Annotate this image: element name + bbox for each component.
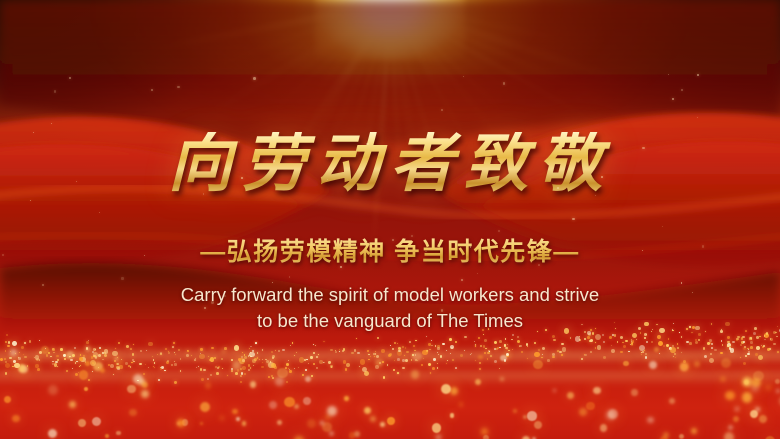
floating-sparkle — [461, 279, 463, 281]
gold-particle — [553, 339, 556, 342]
gold-bokeh-orb — [250, 381, 256, 387]
gold-particle — [740, 344, 742, 346]
gold-particle — [668, 338, 669, 339]
gold-particle — [174, 381, 176, 383]
gold-particle — [758, 355, 763, 360]
gold-bokeh-orb — [269, 401, 277, 409]
gold-particle — [485, 348, 486, 349]
gold-particle — [499, 340, 502, 343]
gold-particle — [286, 363, 289, 366]
gold-particle — [119, 365, 122, 368]
gold-particle — [29, 340, 32, 343]
gold-bokeh-orb — [387, 417, 394, 424]
gold-particle — [737, 336, 739, 338]
gold-particle — [21, 346, 24, 349]
gold-particle — [773, 343, 775, 345]
floating-sparkle — [470, 246, 471, 247]
gold-bokeh-orb — [344, 396, 349, 401]
gold-bokeh-orb — [481, 428, 488, 435]
english-tagline-line2: to be the vanguard of The Times — [0, 308, 780, 334]
gold-bokeh-orb — [567, 392, 574, 399]
gold-bokeh-orb — [370, 416, 377, 423]
gold-particle — [139, 363, 141, 365]
gold-bokeh-orb — [78, 419, 86, 427]
gold-particle — [584, 354, 585, 355]
particle-glow-streak-2 — [0, 368, 780, 384]
gold-particle — [393, 369, 395, 371]
gold-particle — [748, 351, 750, 353]
gold-particle — [242, 359, 245, 362]
gold-bokeh-orb — [720, 376, 726, 382]
gold-particle — [133, 344, 134, 345]
gold-particle — [397, 343, 398, 344]
gold-particle — [595, 334, 601, 340]
floating-sparkle — [340, 266, 341, 267]
gold-particle — [764, 339, 765, 340]
gold-particle — [174, 363, 177, 366]
gold-particle — [313, 363, 315, 365]
gold-particle — [328, 361, 330, 363]
gold-bokeh-orb — [669, 398, 675, 404]
gold-particle — [657, 335, 661, 339]
gold-particle — [250, 346, 252, 348]
gold-particle — [743, 362, 747, 366]
gold-particle — [54, 363, 58, 367]
floating-sparkle — [697, 74, 698, 75]
gold-particle — [60, 348, 63, 351]
gold-bokeh-orb — [267, 360, 273, 366]
gold-bokeh-orb — [232, 361, 241, 370]
gold-particle — [490, 355, 492, 357]
gold-particle — [534, 342, 536, 344]
gold-particle — [617, 341, 619, 343]
gold-particle — [414, 350, 415, 351]
gold-particle — [494, 341, 497, 344]
gold-bokeh-orb — [691, 428, 697, 434]
gold-particle — [171, 364, 173, 366]
particle-band — [0, 320, 780, 439]
gold-particle — [552, 356, 554, 358]
gold-particle — [750, 341, 753, 344]
gold-particle — [158, 379, 160, 381]
gold-particle — [677, 347, 679, 349]
gold-particle — [659, 353, 660, 354]
gold-particle — [479, 368, 480, 369]
gold-particle — [88, 379, 90, 381]
gold-particle — [447, 360, 448, 361]
gold-particle — [250, 367, 251, 368]
gold-particle — [590, 351, 592, 353]
gold-particle — [562, 347, 566, 351]
gold-particle — [478, 337, 480, 339]
gold-particle — [761, 345, 762, 346]
gold-bokeh-orb — [436, 435, 441, 439]
gold-particle — [5, 361, 7, 363]
gold-particle — [108, 364, 110, 366]
gold-particle — [98, 354, 101, 357]
gold-particle — [542, 347, 545, 350]
gold-particle — [262, 362, 263, 363]
gold-particle — [172, 346, 174, 348]
gold-particle — [641, 352, 642, 353]
gold-bokeh-orb — [694, 361, 701, 368]
gold-particle — [240, 381, 242, 383]
gold-bokeh-orb — [380, 422, 385, 427]
gold-particle — [360, 359, 365, 364]
gold-bokeh-orb — [133, 374, 143, 384]
gold-particle — [730, 348, 735, 353]
gold-particle — [209, 359, 211, 361]
gold-bokeh-orb — [742, 392, 753, 403]
gold-particle — [362, 367, 367, 372]
gold-particle — [262, 359, 263, 360]
gold-particle — [12, 341, 17, 346]
gold-particle — [547, 359, 550, 362]
gold-bokeh-orb — [329, 431, 334, 436]
gold-particle — [186, 354, 189, 357]
gold-particle — [346, 363, 350, 367]
gold-bokeh-orb — [483, 435, 489, 439]
gold-particle — [620, 351, 623, 354]
gold-particle — [603, 341, 605, 343]
gold-particle — [168, 352, 170, 354]
gold-particle — [56, 355, 58, 357]
gold-particle — [628, 351, 629, 352]
gold-particle — [330, 365, 333, 368]
floating-sparkle — [42, 284, 44, 286]
gold-bokeh-orb — [721, 358, 731, 368]
floating-sparkle — [572, 218, 574, 220]
floating-sparkle — [121, 277, 123, 279]
gold-particle — [711, 343, 713, 345]
gold-bokeh-orb — [534, 421, 542, 429]
gold-bokeh-orb — [725, 391, 735, 401]
gold-particle — [234, 345, 239, 350]
gold-particle — [79, 357, 83, 361]
gold-bokeh-orb — [284, 397, 295, 408]
gold-particle — [614, 334, 617, 337]
gold-particle — [152, 356, 153, 357]
gold-bokeh-orb — [647, 417, 653, 423]
gold-particle — [736, 339, 738, 341]
gold-bokeh-orb — [327, 406, 336, 415]
gold-particle — [698, 339, 700, 341]
gold-particle — [570, 337, 571, 338]
gold-bokeh-orb — [105, 434, 109, 438]
gold-particle — [354, 349, 357, 352]
gold-particle — [394, 360, 395, 361]
gold-particle — [294, 368, 295, 369]
gold-bokeh-orb — [349, 432, 356, 439]
gold-particle — [581, 358, 583, 360]
gold-particle — [35, 364, 39, 368]
gold-particle — [538, 349, 540, 351]
gold-bokeh-orb — [275, 377, 284, 386]
gold-particle — [707, 342, 710, 345]
gold-particle — [432, 367, 435, 370]
gold-particle — [511, 339, 513, 341]
gold-particle — [534, 352, 539, 357]
gold-particle — [248, 364, 250, 366]
gold-particle — [450, 345, 454, 349]
gold-particle — [5, 341, 8, 344]
gold-bokeh-orb — [119, 360, 123, 364]
gold-particle — [8, 341, 10, 343]
gold-particle — [390, 345, 391, 346]
gold-particle — [431, 340, 432, 341]
gold-bokeh-orb — [600, 424, 607, 431]
gold-particle — [584, 338, 586, 340]
floating-sparkle — [503, 82, 505, 84]
gold-particle — [561, 343, 564, 346]
gold-particle — [13, 360, 16, 363]
gold-particle — [776, 336, 777, 337]
gold-bokeh-orb — [459, 402, 464, 407]
gold-particle — [249, 355, 250, 356]
gold-particle — [145, 364, 146, 365]
gold-particle — [257, 352, 258, 353]
gold-particle — [750, 346, 753, 349]
gold-particle — [670, 347, 675, 352]
gold-bokeh-orb — [305, 376, 311, 382]
gold-particle — [235, 372, 238, 375]
gold-particle — [357, 352, 359, 354]
gold-bokeh-orb — [450, 387, 458, 395]
gold-particle — [484, 352, 486, 354]
gold-particle — [442, 343, 445, 346]
gold-bokeh-orb — [765, 384, 772, 391]
gold-bokeh-orb — [475, 379, 481, 385]
gold-particle — [148, 342, 153, 347]
gold-particle — [446, 363, 447, 364]
gold-particle — [335, 351, 337, 353]
floating-sparkle — [144, 255, 145, 256]
gold-particle — [217, 367, 219, 369]
gold-particle — [302, 374, 304, 376]
gold-particle — [304, 359, 306, 361]
gold-particle — [173, 342, 174, 343]
gold-bokeh-orb — [92, 417, 101, 426]
gold-particle — [689, 342, 692, 345]
gold-particle — [499, 347, 500, 348]
gold-particle — [231, 359, 233, 361]
gold-particle — [4, 358, 6, 360]
gold-particle — [323, 341, 324, 342]
gold-particle — [422, 350, 427, 355]
gold-particle — [673, 356, 674, 357]
gold-bokeh-orb — [679, 434, 684, 439]
floating-sparkle — [99, 212, 100, 213]
gold-particle — [132, 353, 134, 355]
gold-particle — [397, 358, 400, 361]
gold-particle — [252, 350, 253, 351]
gold-particle — [130, 366, 131, 367]
gold-bokeh-orb — [776, 389, 780, 393]
gold-particle — [199, 354, 204, 359]
gold-particle — [286, 381, 288, 383]
gold-particle — [343, 348, 345, 350]
gold-particle — [722, 344, 724, 346]
gold-bokeh-orb — [142, 382, 148, 388]
gold-particle — [339, 351, 340, 352]
gold-bokeh-orb — [200, 422, 203, 425]
gold-bokeh-orb — [116, 431, 120, 435]
gold-bokeh-orb — [500, 377, 503, 380]
gold-particle — [449, 338, 452, 341]
gold-particle — [741, 337, 743, 339]
gold-particle — [86, 341, 89, 344]
gold-particle — [777, 351, 779, 353]
gold-particle — [641, 354, 642, 355]
gold-bokeh-orb — [48, 429, 57, 438]
floating-sparkle — [499, 136, 501, 138]
gold-bokeh-orb — [513, 409, 516, 412]
gold-particle — [674, 353, 676, 355]
gold-particle — [240, 368, 242, 370]
gold-particle — [474, 341, 476, 343]
gold-particle — [455, 367, 457, 369]
gold-particle — [345, 368, 347, 370]
gold-bokeh-orb — [553, 389, 556, 392]
gold-bokeh-orb — [303, 397, 311, 405]
gold-particle — [732, 341, 735, 344]
gold-particle — [428, 363, 431, 366]
gold-particle — [140, 350, 142, 352]
gold-particle — [339, 349, 340, 350]
gold-bokeh-orb — [663, 432, 669, 438]
floating-sparkle — [211, 301, 213, 303]
gold-particle — [248, 369, 250, 371]
gold-particle — [368, 354, 369, 355]
gold-particle — [99, 347, 101, 349]
floating-sparkle — [177, 86, 179, 88]
gold-particle — [289, 370, 291, 372]
floating-sparkle — [392, 239, 394, 241]
gold-particle — [686, 341, 688, 343]
gold-particle — [272, 357, 274, 359]
gold-particle — [622, 342, 623, 343]
gold-particle — [480, 345, 482, 347]
gold-bokeh-orb — [750, 410, 758, 418]
gold-bokeh-orb — [277, 420, 282, 425]
gold-bokeh-orb — [733, 416, 739, 422]
gold-particle — [315, 345, 316, 346]
gold-bokeh-orb — [242, 421, 247, 426]
gold-particle — [413, 345, 415, 347]
gold-bokeh-orb — [441, 384, 451, 394]
gold-particle — [709, 358, 714, 363]
gold-particle — [426, 336, 427, 337]
english-tagline-line1: Carry forward the spirit of model worker… — [0, 282, 780, 308]
gold-particle — [394, 342, 396, 344]
gold-particle — [430, 372, 431, 373]
gold-particle — [720, 352, 722, 354]
gold-particle — [552, 335, 555, 338]
gold-particle — [517, 340, 520, 343]
gold-bokeh-orb — [4, 396, 11, 403]
gold-particle — [756, 336, 759, 339]
gold-particle — [242, 352, 243, 353]
gold-particle — [7, 345, 10, 348]
gold-particle — [479, 362, 481, 364]
gold-particle — [644, 337, 646, 339]
gold-particle — [721, 340, 723, 342]
gold-bokeh-orb — [432, 423, 442, 433]
floating-sparkle — [253, 77, 256, 80]
gold-particle — [79, 366, 80, 367]
gold-bokeh-orb — [586, 402, 594, 410]
gold-particle — [743, 341, 744, 342]
gold-particle — [575, 336, 581, 342]
gold-bokeh-orb — [623, 361, 629, 367]
gold-particle — [244, 356, 247, 359]
gold-particle — [505, 338, 506, 339]
gold-particle — [631, 342, 634, 345]
gold-particle — [381, 349, 385, 353]
gold-particle — [130, 348, 132, 350]
gold-particle — [508, 350, 509, 351]
gold-particle — [310, 356, 312, 358]
gold-particle — [324, 362, 325, 363]
gold-bokeh-orb — [606, 410, 616, 420]
gold-bokeh-orb — [86, 347, 90, 351]
gold-bokeh-orb — [631, 389, 637, 395]
gold-particle — [595, 342, 596, 343]
gold-particle — [677, 343, 678, 344]
gold-bokeh-orb — [294, 404, 300, 410]
gold-bokeh-orb — [205, 382, 211, 388]
gold-particle — [484, 339, 487, 342]
gold-particle — [298, 367, 299, 368]
gold-particle — [475, 345, 476, 346]
gold-particle — [464, 336, 467, 339]
gold-bokeh-orb — [129, 409, 137, 417]
gold-bokeh-orb — [48, 385, 58, 395]
gold-particle — [587, 336, 590, 339]
gold-particle — [259, 359, 260, 360]
gold-particle — [316, 356, 317, 357]
gold-bokeh-orb — [527, 411, 536, 420]
gold-particle — [620, 336, 623, 339]
gold-particle — [759, 336, 761, 338]
gold-particle — [623, 345, 626, 348]
gold-particle — [241, 372, 243, 374]
gold-particle — [112, 351, 117, 356]
gold-bokeh-orb — [735, 407, 739, 411]
gold-particle — [24, 342, 25, 343]
gold-bokeh-orb — [79, 370, 88, 379]
gold-particle — [76, 361, 77, 362]
gold-particle — [292, 342, 294, 344]
gold-bokeh-orb — [450, 413, 455, 418]
gold-particle — [579, 336, 580, 337]
gold-particle — [411, 359, 413, 361]
gold-particle — [88, 340, 89, 341]
gold-particle — [200, 368, 202, 370]
floating-sparkle — [151, 89, 152, 90]
gold-bokeh-orb — [759, 415, 767, 423]
gold-particle — [216, 372, 219, 375]
gold-bokeh-orb — [751, 378, 760, 387]
gold-bokeh-orb — [115, 357, 118, 360]
gold-bokeh-orb — [69, 401, 77, 409]
gold-particle — [255, 342, 257, 344]
gold-particle — [305, 369, 307, 371]
page-title: 向劳动者致敬 — [0, 132, 780, 196]
gold-particle — [201, 378, 203, 380]
gold-bokeh-orb — [85, 361, 90, 366]
gold-particle — [290, 345, 292, 347]
